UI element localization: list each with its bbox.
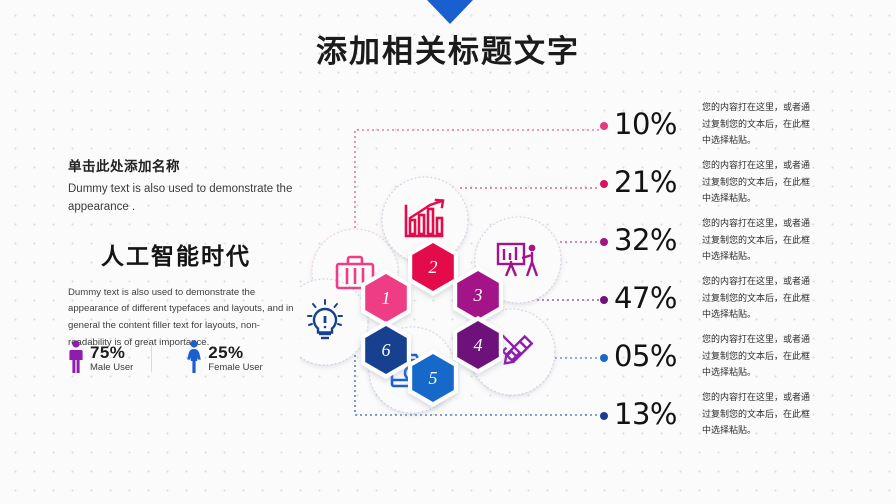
female-label: Female User: [208, 363, 262, 373]
female-stat-texts: 25% Female User: [208, 344, 262, 375]
left-text-panel: 单击此处添加名称 Dummy text is also used to demo…: [68, 155, 298, 352]
percent-desc-3: 您的内容打在这里，或者通过复制您的文本后，在此框中选择粘贴。: [702, 216, 814, 266]
stat-male-user: 75% Male User: [68, 340, 133, 374]
percent-desc-1: 您的内容打在这里，或者通过复制您的文本后，在此框中选择粘贴。: [702, 100, 814, 150]
percent-row-6[interactable]: 13% 您的内容打在这里，或者通过复制您的文本后，在此框中选择粘贴。: [600, 390, 896, 440]
bullet-dot-icon: [600, 412, 608, 420]
cluster-graphic: 2 1 3 4: [300, 100, 600, 430]
top-accent-triangle: [427, 0, 473, 24]
page-title: 添加相关标题文字: [0, 26, 896, 71]
male-label: Male User: [90, 363, 133, 373]
hexagon-2-number: 2: [429, 257, 438, 277]
hexagon-4-number: 4: [474, 335, 483, 355]
male-percent: 75%: [90, 344, 133, 361]
percent-row-3[interactable]: 32% 您的内容打在这里，或者通过复制您的文本后，在此框中选择粘贴。: [600, 216, 896, 266]
hexagon-icon-cluster: 2 1 3 4: [300, 100, 600, 430]
bullet-dot-icon: [600, 354, 608, 362]
percent-value-4: 47%: [614, 284, 696, 313]
stats-divider: [151, 342, 152, 372]
percent-value-6: 13%: [614, 400, 696, 429]
percent-desc-5: 您的内容打在这里，或者通过复制您的文本后，在此框中选择粘贴。: [702, 332, 814, 382]
hexagon-6-number: 6: [382, 340, 391, 360]
percent-value-3: 32%: [614, 226, 696, 255]
percent-row-5[interactable]: 05% 您的内容打在这里，或者通过复制您的文本后，在此框中选择粘贴。: [600, 332, 896, 382]
percent-row-4[interactable]: 47% 您的内容打在这里，或者通过复制您的文本后，在此框中选择粘贴。: [600, 274, 896, 324]
hexagon-1-number: 1: [382, 288, 391, 308]
percent-desc-4: 您的内容打在这里，或者通过复制您的文本后，在此框中选择粘贴。: [702, 274, 814, 324]
left-big-title: 人工智能时代: [68, 237, 298, 271]
percent-desc-6: 您的内容打在这里，或者通过复制您的文本后，在此框中选择粘贴。: [702, 390, 814, 440]
percent-row-1[interactable]: 10% 您的内容打在这里，或者通过复制您的文本后，在此框中选择粘贴。: [600, 100, 896, 150]
female-percent: 25%: [208, 344, 262, 361]
gender-stats: 75% Male User 25% Female User: [68, 340, 304, 374]
bullet-dot-icon: [600, 122, 608, 130]
female-user-icon: [186, 340, 202, 374]
bullet-dot-icon: [600, 296, 608, 304]
male-user-icon: [68, 340, 84, 374]
percent-value-5: 05%: [614, 342, 696, 371]
percent-desc-2: 您的内容打在这里，或者通过复制您的文本后，在此框中选择粘贴。: [702, 158, 814, 208]
hexagon-3-number: 3: [473, 285, 483, 305]
bullet-dot-icon: [600, 238, 608, 246]
bullet-dot-icon: [600, 180, 608, 188]
left-sub-paragraph: Dummy text is also used to demonstrate t…: [68, 181, 298, 217]
hexagon-5-number: 5: [429, 368, 438, 388]
percent-value-2: 21%: [614, 168, 696, 197]
percent-row-2[interactable]: 21% 您的内容打在这里，或者通过复制您的文本后，在此框中选择粘贴。: [600, 158, 896, 208]
percent-value-1: 10%: [614, 110, 696, 139]
male-stat-texts: 75% Male User: [90, 344, 133, 375]
stat-female-user: 25% Female User: [186, 340, 262, 374]
slide-canvas: 添加相关标题文字 单击此处添加名称 Dummy text is also use…: [0, 0, 896, 504]
left-sub-title: 单击此处添加名称: [68, 155, 298, 175]
